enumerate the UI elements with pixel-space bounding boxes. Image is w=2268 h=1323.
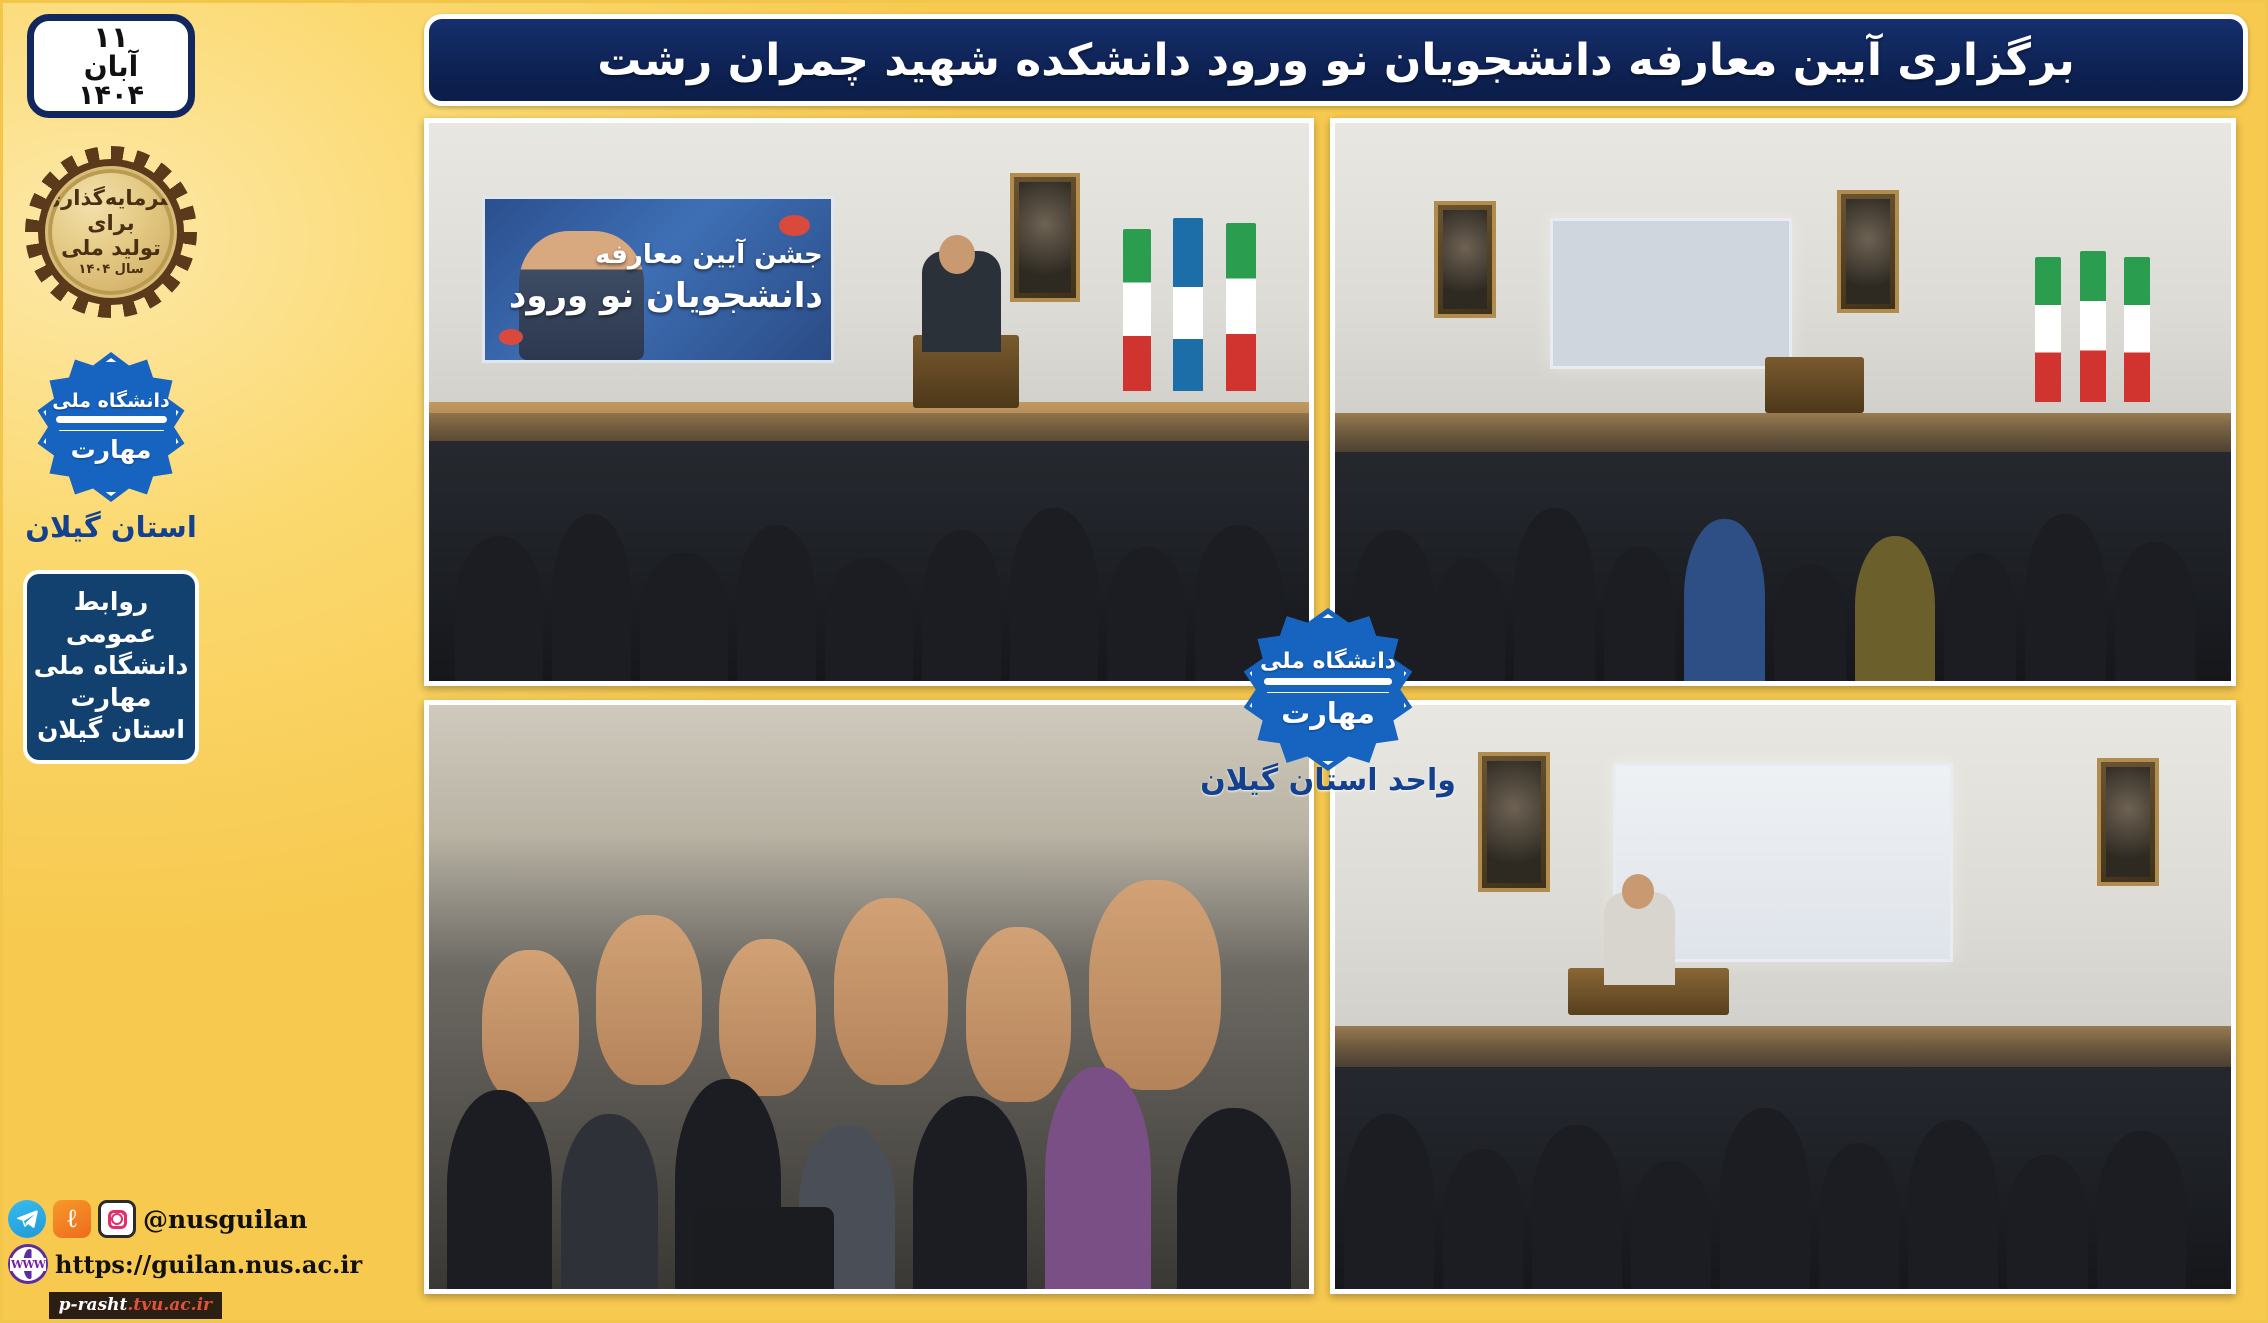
photo-grid: جشن آیین معارفه دانشجویان نو ورود bbox=[424, 118, 2248, 1310]
date-year: ۱۴۰۴ bbox=[78, 82, 144, 110]
pr-line-1: روابط عمومی bbox=[33, 586, 189, 650]
telegram-icon[interactable] bbox=[8, 1200, 46, 1238]
pr-line-2: دانشگاه ملی bbox=[33, 650, 189, 682]
public-relations-box: روابط عمومی دانشگاه ملی مهارت استان گیلا… bbox=[23, 570, 199, 764]
photo-presentation bbox=[1330, 700, 2236, 1294]
photo-speaker-podium: جشن آیین معارفه دانشجویان نو ورود bbox=[424, 118, 1314, 686]
poster-background: برگزاری آیین معارفه دانشجویان نو ورود دا… bbox=[0, 0, 2268, 1323]
logo-line-bottom: مهارت bbox=[71, 437, 152, 462]
website-url[interactable]: https://guilan.nus.ac.ir bbox=[55, 1250, 362, 1279]
date-card: ۱۱ آبان ۱۴۰۴ bbox=[27, 14, 195, 118]
page-title: برگزاری آیین معارفه دانشجویان نو ورود دا… bbox=[597, 35, 2075, 86]
photo-hall-wide bbox=[1330, 118, 2236, 686]
emblem-line-2: برای bbox=[87, 211, 134, 236]
watermark-main: p-rasht bbox=[59, 1295, 128, 1315]
source-watermark: p-rasht.tvu.ac.ir bbox=[49, 1292, 222, 1319]
province-label: استان گیلان bbox=[25, 510, 197, 544]
social-links-row: ℓ @nusguilan bbox=[0, 1200, 222, 1238]
eitaa-glyph: ℓ bbox=[67, 1204, 77, 1234]
globe-label: WWW bbox=[10, 1258, 46, 1271]
date-day: ۱۱ bbox=[93, 22, 128, 52]
logo-swoosh-icon bbox=[56, 416, 167, 423]
emblem-year: سال ۱۴۰۴ bbox=[78, 262, 143, 277]
date-month: آبان bbox=[84, 52, 139, 81]
logo-line-top: دانشگاه ملی bbox=[52, 392, 170, 411]
title-banner: برگزاری آیین معارفه دانشجویان نو ورود دا… bbox=[424, 14, 2248, 106]
emblem-line-1: سرمایه‌گذاری bbox=[45, 186, 177, 211]
national-production-emblem: سرمایه‌گذاری برای تولید ملی سال ۱۴۰۴ bbox=[25, 146, 197, 318]
eitaa-icon[interactable]: ℓ bbox=[53, 1200, 91, 1238]
pr-line-4: استان گیلان bbox=[33, 714, 189, 746]
instagram-icon[interactable] bbox=[98, 1200, 136, 1238]
university-logo: دانشگاه ملی مهارت bbox=[36, 352, 186, 502]
photo-students-closeup bbox=[424, 700, 1314, 1294]
watermark-suffix: .tvu.ac.ir bbox=[127, 1295, 212, 1315]
website-row: WWW https://guilan.nus.ac.ir bbox=[0, 1238, 222, 1284]
globe-icon: WWW bbox=[8, 1244, 48, 1284]
pr-line-3: مهارت bbox=[33, 682, 189, 714]
sidebar: ۱۱ آبان ۱۴۰۴ سرمایه‌گذاری برای تولید ملی… bbox=[0, 0, 222, 1323]
emblem-line-3: تولید ملی bbox=[61, 236, 161, 261]
social-handle[interactable]: @nusguilan bbox=[143, 1205, 307, 1234]
